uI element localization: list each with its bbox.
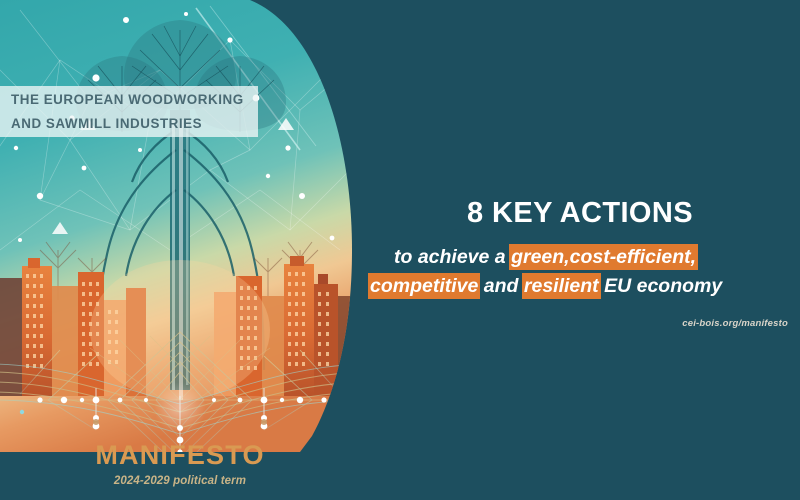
manifesto-subtitle: 2024-2029 political term — [0, 472, 360, 490]
website-url[interactable]: cei-bois.org/manifesto — [682, 318, 788, 329]
subheadline-segment-eu-economy: EU economy — [599, 275, 723, 297]
subheadline-segment-plain: to achieve a — [394, 246, 511, 268]
illustration-artwork — [0, 0, 360, 500]
manifesto-block: MANIFESTO 2024-2029 political term — [0, 440, 360, 490]
subheadline-highlight-competitive: competitive — [370, 275, 478, 297]
hero-illustration — [0, 0, 360, 500]
label-line-2: AND SAWMILL INDUSTRIES — [11, 112, 258, 136]
subheadline-highlight-green: green, — [511, 246, 570, 268]
right-content-pane: 8 KEY ACTIONS to achieve a green,cost-ef… — [360, 0, 800, 500]
subheadline-highlight-cost-efficient: cost-efficient, — [570, 246, 696, 268]
label-line-1: THE EUROPEAN WOODWORKING — [11, 88, 258, 112]
subheadline-highlight-resilient: resilient — [524, 275, 599, 297]
subheadline-segment-and: and — [478, 275, 524, 297]
subheadline-line-1: to achieve a green,cost-efficient, — [366, 243, 800, 272]
manifesto-title: MANIFESTO — [0, 440, 360, 470]
page-title: 8 KEY ACTIONS — [360, 197, 800, 230]
subheadline: to achieve a green,cost-efficient, compe… — [366, 243, 800, 301]
poster-canvas: THE EUROPEAN WOODWORKING AND SAWMILL IND… — [0, 0, 800, 500]
organisation-label-panel: THE EUROPEAN WOODWORKING AND SAWMILL IND… — [0, 86, 258, 137]
subheadline-line-2: competitive and resilient EU economy — [366, 272, 800, 301]
